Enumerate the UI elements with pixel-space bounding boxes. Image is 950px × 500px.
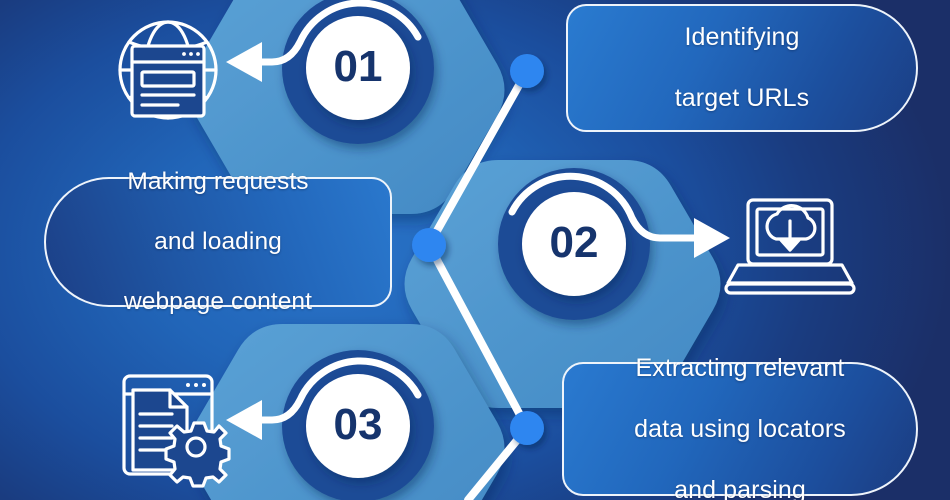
step-03-line-3: and parsing bbox=[620, 475, 860, 500]
step-02-line-1: Making requests bbox=[110, 167, 326, 197]
step-02-line-2: and loading bbox=[110, 227, 326, 257]
browser-document-gear-icon bbox=[124, 376, 229, 486]
globe-browser-icon bbox=[120, 22, 216, 118]
step-01-line-1: Identifying bbox=[661, 22, 824, 53]
step-02-text: Making requestsand loadingwebpage conten… bbox=[96, 167, 340, 316]
connector-node-top bbox=[510, 54, 544, 88]
infographic-canvas: 01 02 03 Identifyingtarget URLs Making r… bbox=[0, 0, 950, 500]
step-03-text-pill[interactable]: Extracting relevantdata using locatorsan… bbox=[562, 362, 918, 496]
step-03-text: Extracting relevantdata using locatorsan… bbox=[606, 353, 874, 500]
badge-number-01: 01 bbox=[303, 42, 413, 92]
step-03-line-1: Extracting relevant bbox=[620, 353, 860, 384]
connector-lines bbox=[429, 71, 527, 500]
laptop-cloud-download-icon bbox=[726, 200, 854, 293]
step-02-text-pill[interactable]: Making requestsand loadingwebpage conten… bbox=[44, 177, 392, 307]
step-02-line-3: webpage content bbox=[110, 287, 326, 317]
step-01-text: Identifyingtarget URLs bbox=[647, 22, 838, 114]
step-03-line-2: data using locators bbox=[620, 414, 860, 445]
badge-number-02: 02 bbox=[519, 218, 629, 268]
connector-node-middle bbox=[412, 228, 446, 262]
step-01-text-pill[interactable]: Identifyingtarget URLs bbox=[566, 4, 918, 132]
step-01-line-2: target URLs bbox=[661, 83, 824, 114]
connector-node-bottom bbox=[510, 411, 544, 445]
badge-number-03: 03 bbox=[303, 400, 413, 450]
